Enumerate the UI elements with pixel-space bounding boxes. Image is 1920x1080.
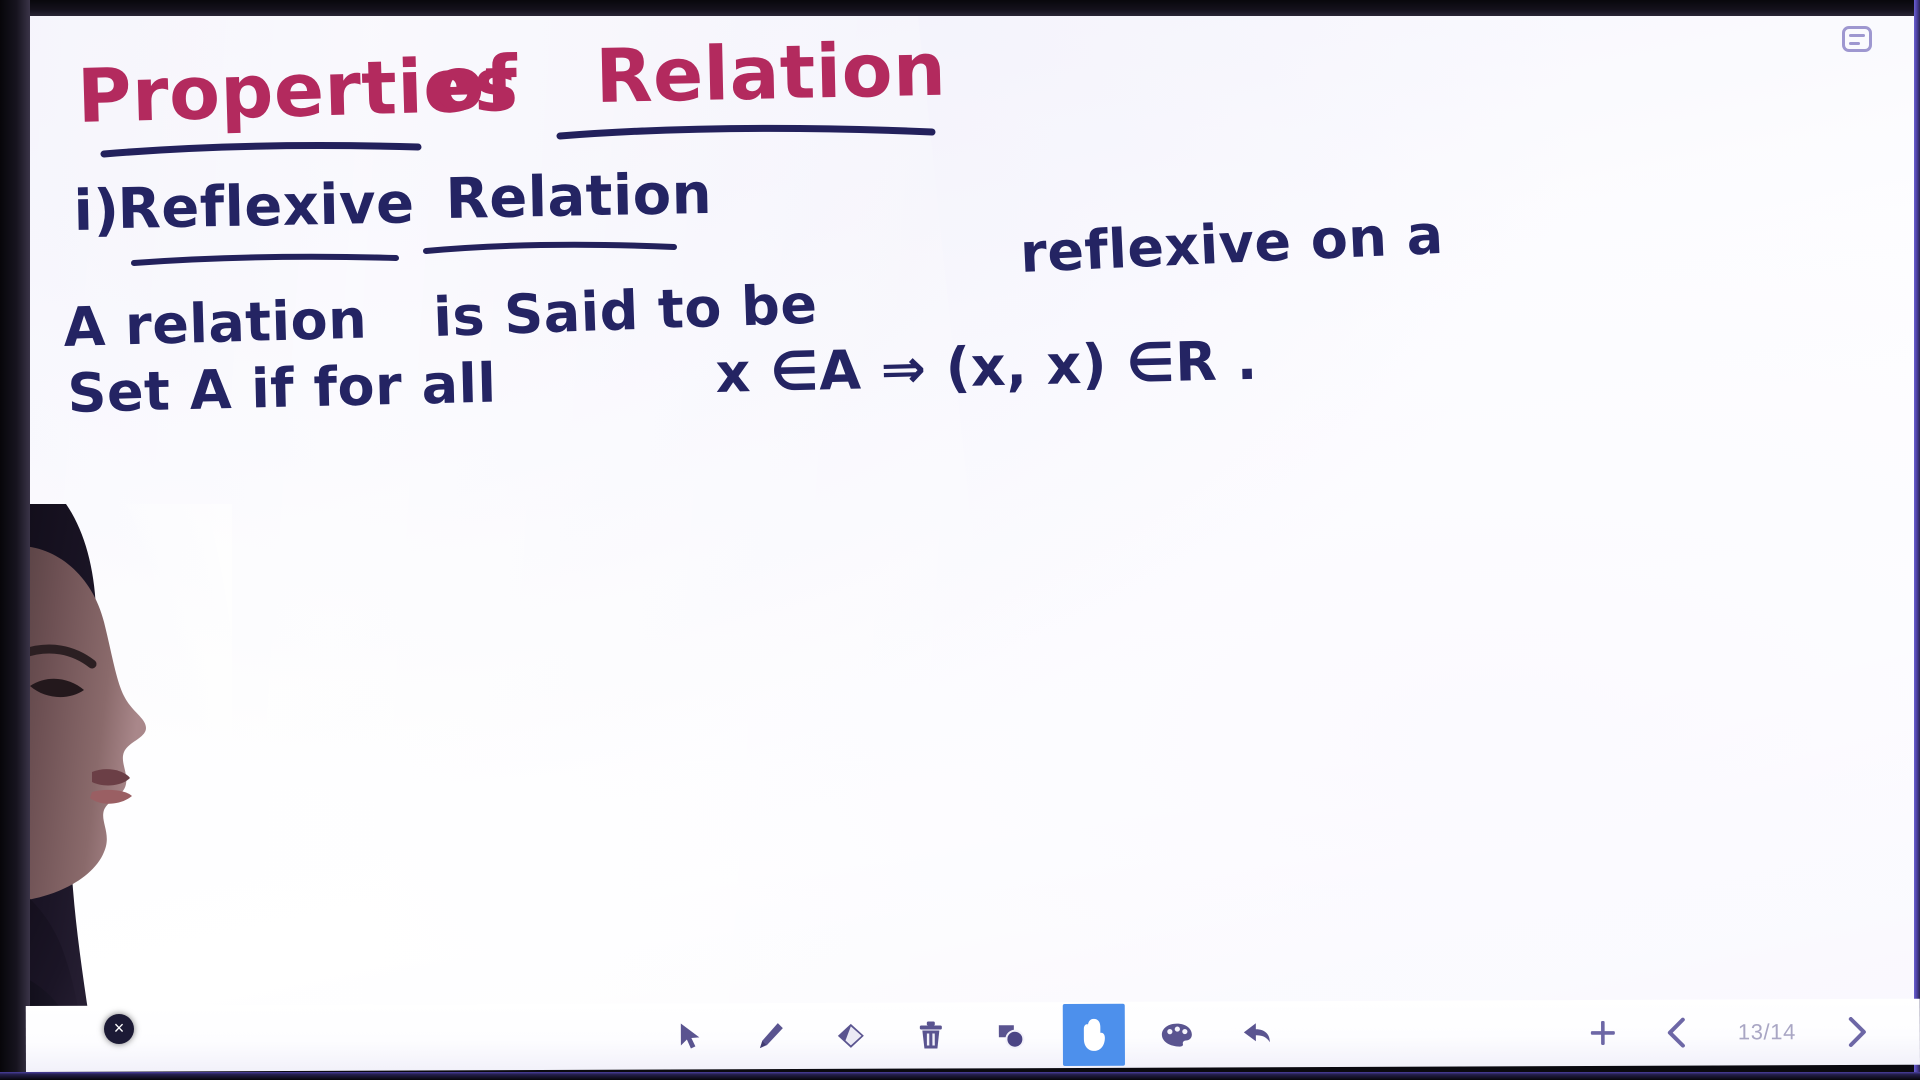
list-panel-icon[interactable] — [1842, 26, 1872, 52]
tool-delete-button[interactable] — [903, 1009, 959, 1061]
chevron-left-icon — [1666, 1018, 1688, 1048]
shapes-icon — [996, 1021, 1026, 1049]
title-word-properties: Properties — [76, 42, 519, 140]
whiteboard-canvas[interactable]: Properties of Relation i) Reflexive Rela… — [26, 14, 1920, 1022]
previous-page-button[interactable] — [1660, 1016, 1694, 1050]
tool-palette-button[interactable] — [1149, 1008, 1205, 1060]
title-word-of: of — [433, 40, 519, 128]
ink-svg: Properties of Relation i) Reflexive Rela… — [26, 14, 1920, 1022]
tool-group — [663, 1003, 1285, 1067]
page-navigation: 13/14 — [1586, 1015, 1874, 1050]
palette-icon — [1161, 1022, 1193, 1048]
frame-bezel-bottom — [0, 1072, 1920, 1080]
hand-icon — [1082, 1018, 1106, 1052]
cursor-arrow-icon — [678, 1021, 704, 1051]
title-word-relation: Relation — [595, 27, 947, 120]
eraser-icon — [836, 1022, 866, 1050]
frame-bezel-right — [1914, 0, 1920, 1080]
tool-select-button[interactable] — [663, 1010, 719, 1062]
tool-pan-button[interactable] — [1063, 1004, 1125, 1066]
presenter-close-button[interactable]: × — [104, 1014, 134, 1044]
body-line1-part-a: A relation — [63, 288, 368, 359]
bottom-toolbar: 13/14 — [26, 999, 1920, 1072]
page-indicator: 13/14 — [1734, 1019, 1800, 1045]
tool-eraser-button[interactable] — [823, 1010, 879, 1062]
heading-word-reflexive: Reflexive — [117, 171, 415, 242]
body-line1-part-b: is Said to be — [432, 273, 818, 349]
tool-shapes-button[interactable] — [983, 1009, 1039, 1061]
plus-icon — [1589, 1019, 1617, 1047]
trash-icon — [918, 1020, 944, 1050]
body-line2-part-a: Set A if for all — [67, 352, 497, 425]
tool-pen-button[interactable] — [743, 1010, 799, 1062]
heading-underline-reflexive — [134, 257, 396, 263]
tool-undo-button[interactable] — [1229, 1008, 1285, 1060]
title-underline-properties — [104, 146, 418, 154]
title-underline-relation — [560, 128, 932, 136]
add-page-button[interactable] — [1586, 1016, 1620, 1050]
heading-marker: i) — [73, 178, 120, 244]
next-page-button[interactable] — [1840, 1015, 1874, 1049]
close-icon: × — [114, 1019, 125, 1037]
body-line1-part-c: reflexive on a — [1019, 203, 1445, 285]
chevron-right-icon — [1846, 1017, 1868, 1047]
heading-word-relation: Relation — [445, 162, 713, 232]
frame-bezel-top — [0, 0, 1920, 16]
heading-underline-relation — [426, 245, 674, 251]
frame-bezel-left — [0, 0, 30, 1080]
undo-arrow-icon — [1242, 1021, 1272, 1047]
handwritten-ink-layer: Properties of Relation i) Reflexive Rela… — [26, 14, 1920, 1022]
pencil-icon — [757, 1021, 785, 1051]
body-line2-part-b: x ∈A ⇒ (x, x) ∈R . — [715, 329, 1259, 405]
whiteboard-app-stage: Properties of Relation i) Reflexive Rela… — [0, 0, 1920, 1080]
